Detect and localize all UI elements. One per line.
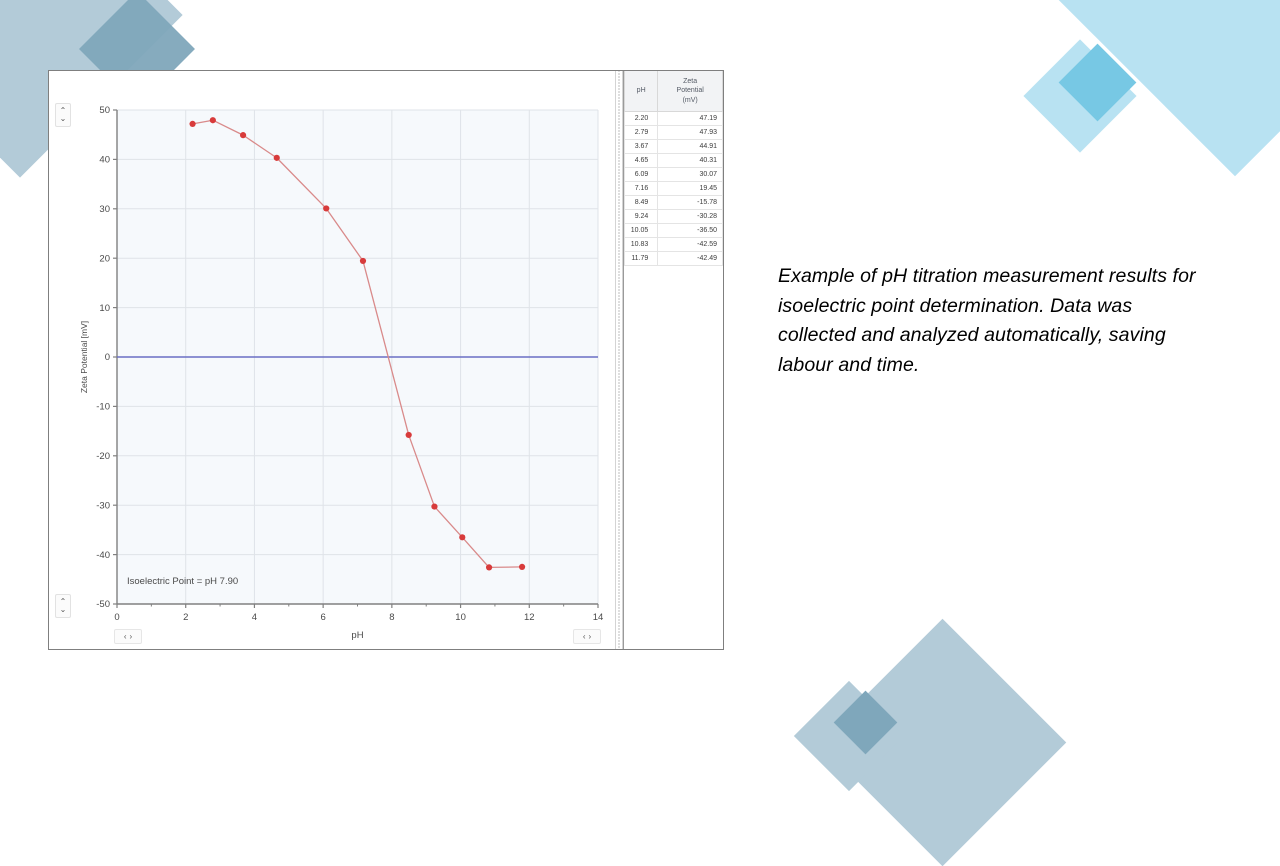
- y-tick-label: 50: [99, 105, 110, 116]
- cell-ph: 8.49: [625, 196, 658, 210]
- y-axis-label: Zeta Potential [mV]: [79, 321, 89, 393]
- table-row[interactable]: 2.2047.19: [625, 112, 723, 126]
- results-table: pH Zeta Potential (mV) 2.2047.192.7947.9…: [624, 71, 723, 266]
- x-tick-label: 14: [593, 612, 604, 623]
- table-row[interactable]: 8.49-15.78: [625, 196, 723, 210]
- table-header-zeta-line1: Zeta: [661, 77, 719, 86]
- cell-zeta-potential: 47.93: [658, 126, 723, 140]
- data-point[interactable]: [486, 564, 492, 570]
- cell-zeta-potential: 30.07: [658, 168, 723, 182]
- table-header-zeta-line3: (mV): [661, 96, 719, 105]
- cell-zeta-potential: -42.49: [658, 252, 723, 266]
- results-table-pane[interactable]: pH Zeta Potential (mV) 2.2047.192.7947.9…: [623, 71, 723, 649]
- data-point[interactable]: [459, 534, 465, 540]
- table-body: 2.2047.192.7947.933.6744.914.6540.316.09…: [625, 112, 723, 266]
- data-point[interactable]: [406, 432, 412, 438]
- cell-ph: 10.83: [625, 238, 658, 252]
- y-tick-label: -50: [96, 599, 110, 610]
- pane-splitter[interactable]: [615, 71, 623, 649]
- cell-ph: 3.67: [625, 140, 658, 154]
- y-tick-label: -40: [96, 550, 110, 561]
- table-row[interactable]: 11.79-42.49: [625, 252, 723, 266]
- cell-ph: 6.09: [625, 168, 658, 182]
- y-tick-label: -30: [96, 500, 110, 511]
- y-tick-label: -10: [96, 402, 110, 413]
- data-point[interactable]: [189, 121, 195, 127]
- cell-ph: 2.79: [625, 126, 658, 140]
- table-row[interactable]: 3.6744.91: [625, 140, 723, 154]
- isoelectric-point-annotation: Isoelectric Point = pH 7.90: [127, 576, 238, 587]
- data-point[interactable]: [360, 258, 366, 264]
- table-header-ph[interactable]: pH: [625, 71, 658, 112]
- y-axis-ticks: -50-40-30-20-1001020304050: [96, 105, 117, 610]
- y-tick-label: -20: [96, 451, 110, 462]
- table-header-zeta-line2: Potential: [661, 86, 719, 95]
- x-axis-label: pH: [351, 630, 363, 641]
- data-point[interactable]: [274, 155, 280, 161]
- x-tick-label: 4: [252, 612, 257, 623]
- cell-ph: 2.20: [625, 112, 658, 126]
- x-tick-label: 10: [455, 612, 466, 623]
- chart-pane: ⌃ ⌄ ⌃ ⌄ ‹ › ‹ › -50-40-30-20-10010203040…: [49, 71, 615, 649]
- zeta-potential-titration-chart: -50-40-30-20-100102030405002468101214pHZ…: [49, 71, 615, 651]
- cell-ph: 7.16: [625, 182, 658, 196]
- data-point[interactable]: [210, 117, 216, 123]
- cell-zeta-potential: -36.50: [658, 224, 723, 238]
- slide-caption: Example of pH titration measurement resu…: [778, 262, 1198, 380]
- y-tick-label: 40: [99, 155, 110, 166]
- cell-zeta-potential: 19.45: [658, 182, 723, 196]
- y-tick-label: 0: [105, 352, 110, 363]
- x-tick-label: 0: [114, 612, 119, 623]
- data-point[interactable]: [431, 503, 437, 509]
- table-row[interactable]: 7.1619.45: [625, 182, 723, 196]
- x-tick-label: 12: [524, 612, 535, 623]
- table-header-row: pH Zeta Potential (mV): [625, 71, 723, 112]
- table-row[interactable]: 10.83-42.59: [625, 238, 723, 252]
- cell-zeta-potential: 40.31: [658, 154, 723, 168]
- cell-zeta-potential: -30.28: [658, 210, 723, 224]
- data-point[interactable]: [240, 132, 246, 138]
- x-tick-label: 8: [389, 612, 394, 623]
- x-tick-label: 2: [183, 612, 188, 623]
- analysis-software-window: ⌃ ⌄ ⌃ ⌄ ‹ › ‹ › -50-40-30-20-10010203040…: [48, 70, 724, 650]
- table-row[interactable]: 10.05-36.50: [625, 224, 723, 238]
- table-row[interactable]: 2.7947.93: [625, 126, 723, 140]
- cell-zeta-potential: -42.59: [658, 238, 723, 252]
- y-tick-label: 30: [99, 204, 110, 215]
- y-tick-label: 10: [99, 303, 110, 314]
- x-tick-label: 6: [320, 612, 325, 623]
- cell-ph: 9.24: [625, 210, 658, 224]
- cell-ph: 4.65: [625, 154, 658, 168]
- table-row[interactable]: 6.0930.07: [625, 168, 723, 182]
- x-axis-ticks: 02468101214: [114, 604, 603, 623]
- cell-ph: 11.79: [625, 252, 658, 266]
- y-tick-label: 20: [99, 253, 110, 264]
- data-point[interactable]: [323, 205, 329, 211]
- table-row[interactable]: 4.6540.31: [625, 154, 723, 168]
- cell-ph: 10.05: [625, 224, 658, 238]
- slide-canvas: ⌃ ⌄ ⌃ ⌄ ‹ › ‹ › -50-40-30-20-10010203040…: [0, 0, 1280, 720]
- cell-zeta-potential: 44.91: [658, 140, 723, 154]
- cell-zeta-potential: -15.78: [658, 196, 723, 210]
- cell-zeta-potential: 47.19: [658, 112, 723, 126]
- table-row[interactable]: 9.24-30.28: [625, 210, 723, 224]
- table-header-zeta-potential[interactable]: Zeta Potential (mV): [658, 71, 723, 112]
- data-point[interactable]: [519, 564, 525, 570]
